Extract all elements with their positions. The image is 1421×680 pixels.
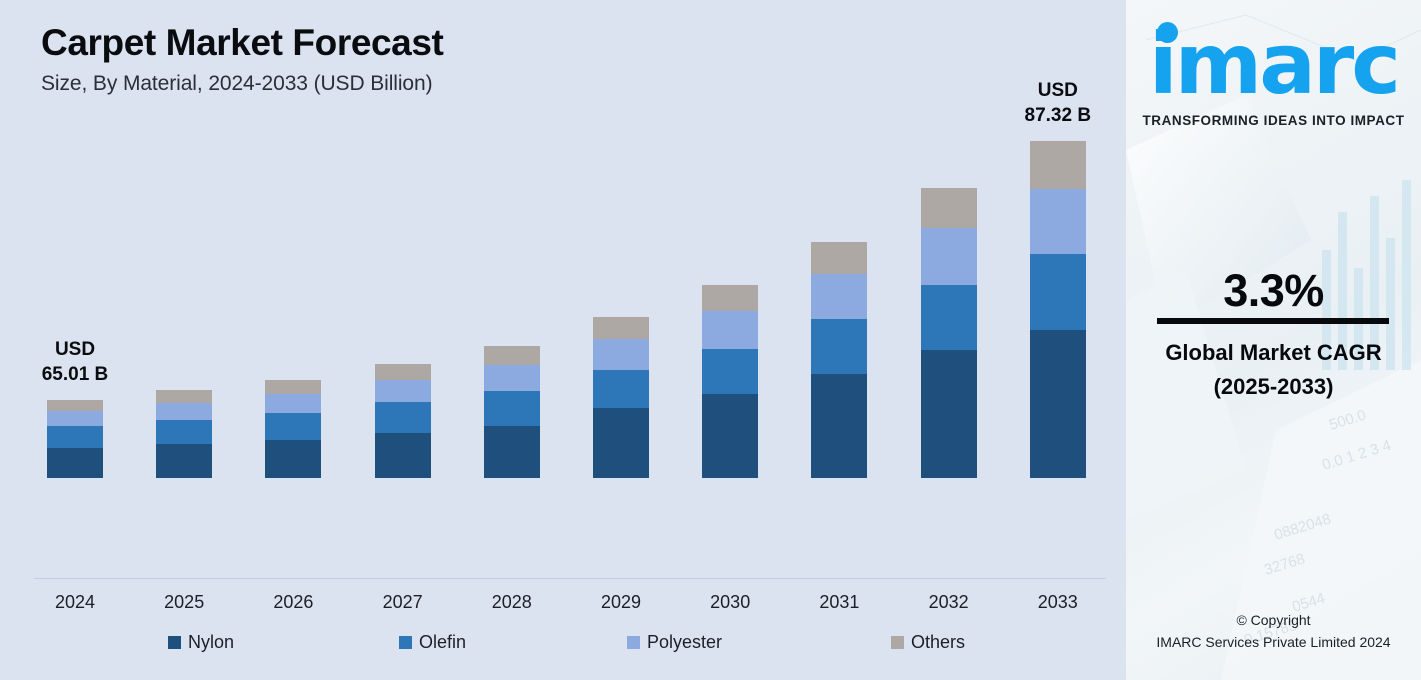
cagr-label-primary: Global Market CAGR bbox=[1126, 340, 1421, 366]
bar-segment-polyester bbox=[265, 394, 321, 413]
bar-total-label: USD65.01 B bbox=[0, 337, 150, 388]
bar-group bbox=[921, 188, 977, 478]
legend-item-others[interactable]: Others bbox=[891, 632, 965, 653]
stacked-bar bbox=[1030, 141, 1086, 478]
legend-label: Nylon bbox=[188, 632, 234, 653]
bar-segment-others bbox=[1030, 141, 1086, 189]
bar-segment-others bbox=[921, 188, 977, 228]
x-axis-label-2024: 2024 bbox=[25, 592, 125, 613]
x-axis-label-2033: 2033 bbox=[1008, 592, 1108, 613]
bar-segment-nylon bbox=[811, 374, 867, 478]
bar-segment-olefin bbox=[811, 319, 867, 374]
axis-baseline bbox=[34, 578, 1106, 579]
x-axis-label-2027: 2027 bbox=[353, 592, 453, 613]
chart-legend: NylonOlefinPolyesterOthers bbox=[0, 632, 1126, 664]
bar-segment-polyester bbox=[47, 411, 103, 426]
copyright-line-2: IMARC Services Private Limited 2024 bbox=[1126, 634, 1421, 650]
legend-swatch-icon bbox=[168, 636, 181, 649]
bar-segment-olefin bbox=[484, 391, 540, 426]
stacked-bar bbox=[811, 242, 867, 478]
legend-item-olefin[interactable]: Olefin bbox=[399, 632, 466, 653]
stacked-bar bbox=[265, 380, 321, 478]
bar-group bbox=[702, 285, 758, 478]
bar-segment-olefin bbox=[593, 370, 649, 408]
legend-label: Polyester bbox=[647, 632, 722, 653]
bar-segment-olefin bbox=[47, 426, 103, 448]
x-axis-labels: 2024202520262027202820292030203120322033 bbox=[0, 592, 1126, 620]
brand-side-panel: 500.0 0.0 1 2 3 4 0882048 32768 0544 0.1… bbox=[1126, 0, 1421, 680]
stacked-bar bbox=[156, 390, 212, 478]
cagr-label-period: (2025-2033) bbox=[1126, 374, 1421, 400]
imarc-logo: imarc TRANSFORMING IDEAS INTO IMPACT bbox=[1126, 8, 1421, 128]
bar-chart-plot: USD65.01 BUSD87.32 B bbox=[0, 0, 1126, 580]
bar-segment-nylon bbox=[1030, 330, 1086, 478]
bar-segment-others bbox=[484, 346, 540, 365]
stacked-bar bbox=[593, 317, 649, 478]
bar-segment-polyester bbox=[484, 365, 540, 391]
bar-total-label: USD87.32 B bbox=[983, 78, 1133, 129]
bar-segment-nylon bbox=[156, 444, 212, 478]
x-axis-label-2031: 2031 bbox=[789, 592, 889, 613]
bar-group bbox=[484, 346, 540, 478]
bar-segment-others bbox=[265, 380, 321, 394]
bar-segment-nylon bbox=[593, 408, 649, 478]
bar-group bbox=[156, 390, 212, 478]
bar-total-currency: USD bbox=[983, 78, 1133, 104]
bar-segment-polyester bbox=[921, 228, 977, 285]
stacked-bar bbox=[921, 188, 977, 478]
bar-segment-olefin bbox=[375, 402, 431, 433]
legend-label: Olefin bbox=[419, 632, 466, 653]
stacked-bar bbox=[375, 364, 431, 478]
bar-segment-olefin bbox=[156, 420, 212, 444]
bar-total-currency: USD bbox=[0, 337, 150, 363]
bar-segment-olefin bbox=[921, 285, 977, 350]
bar-segment-others bbox=[47, 400, 103, 411]
imarc-logo-dot-icon bbox=[1157, 22, 1178, 43]
bar-total-amount: 65.01 B bbox=[0, 362, 150, 388]
x-axis-label-2025: 2025 bbox=[134, 592, 234, 613]
bar-segment-polyester bbox=[375, 380, 431, 402]
bar-segment-others bbox=[702, 285, 758, 311]
x-axis-label-2029: 2029 bbox=[571, 592, 671, 613]
bar-segment-polyester bbox=[702, 311, 758, 349]
copyright-line-1: © Copyright bbox=[1126, 612, 1421, 628]
imarc-logo-tagline: TRANSFORMING IDEAS INTO IMPACT bbox=[1126, 113, 1421, 128]
chart-panel: Carpet Market Forecast Size, By Material… bbox=[0, 0, 1126, 680]
bar-segment-polyester bbox=[1030, 189, 1086, 254]
bar-segment-polyester bbox=[593, 339, 649, 370]
bar-segment-olefin bbox=[702, 349, 758, 394]
bar-segment-olefin bbox=[265, 413, 321, 440]
bar-segment-polyester bbox=[811, 274, 867, 319]
legend-swatch-icon bbox=[627, 636, 640, 649]
bar-segment-nylon bbox=[921, 350, 977, 478]
bar-group: USD87.32 B bbox=[1030, 141, 1086, 478]
bar-segment-others bbox=[156, 390, 212, 403]
cagr-value: 3.3% bbox=[1126, 265, 1421, 317]
bar-group bbox=[811, 242, 867, 478]
x-axis-label-2032: 2032 bbox=[899, 592, 999, 613]
bar-group: USD65.01 B bbox=[47, 400, 103, 478]
stacked-bar bbox=[47, 400, 103, 478]
bar-total-amount: 87.32 B bbox=[983, 103, 1133, 129]
bar-segment-nylon bbox=[702, 394, 758, 478]
bar-segment-others bbox=[375, 364, 431, 380]
x-axis-label-2030: 2030 bbox=[680, 592, 780, 613]
bar-group bbox=[593, 317, 649, 478]
bar-segment-nylon bbox=[265, 440, 321, 478]
bar-group bbox=[375, 364, 431, 478]
legend-item-nylon[interactable]: Nylon bbox=[168, 632, 234, 653]
cagr-divider bbox=[1157, 318, 1389, 324]
x-axis-label-2028: 2028 bbox=[462, 592, 562, 613]
bar-segment-polyester bbox=[156, 403, 212, 420]
bar-segment-olefin bbox=[1030, 254, 1086, 330]
legend-label: Others bbox=[911, 632, 965, 653]
x-axis-label-2026: 2026 bbox=[243, 592, 343, 613]
legend-item-polyester[interactable]: Polyester bbox=[627, 632, 722, 653]
stacked-bar bbox=[484, 346, 540, 478]
legend-swatch-icon bbox=[891, 636, 904, 649]
bar-segment-others bbox=[593, 317, 649, 339]
stacked-bar bbox=[702, 285, 758, 478]
bar-segment-nylon bbox=[375, 433, 431, 478]
bar-group bbox=[265, 380, 321, 478]
bar-segment-nylon bbox=[47, 448, 103, 478]
bar-segment-others bbox=[811, 242, 867, 274]
legend-swatch-icon bbox=[399, 636, 412, 649]
infographic-canvas: Carpet Market Forecast Size, By Material… bbox=[0, 0, 1421, 680]
bar-segment-nylon bbox=[484, 426, 540, 478]
